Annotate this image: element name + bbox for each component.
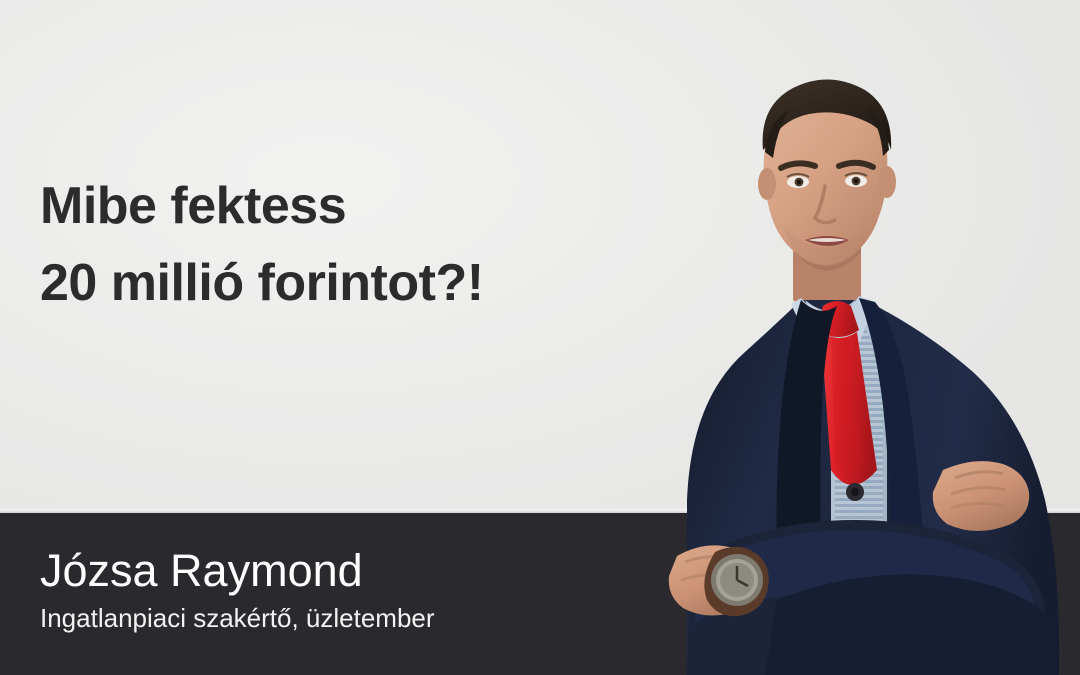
- presenter-info: Józsa Raymond Ingatlanpiaci szakértő, üz…: [40, 545, 435, 635]
- presenter-role: Ingatlanpiaci szakértő, üzletember: [40, 601, 435, 635]
- headline: Mibe fektess 20 millió forintot?!: [40, 168, 680, 322]
- headline-line-2: 20 millió forintot?!: [40, 245, 680, 322]
- portrait-photo: [625, 0, 1080, 675]
- presenter-name: Józsa Raymond: [40, 545, 435, 597]
- headline-line-1: Mibe fektess: [40, 168, 680, 245]
- promo-banner: Mibe fektess 20 millió forintot?!: [0, 0, 1080, 675]
